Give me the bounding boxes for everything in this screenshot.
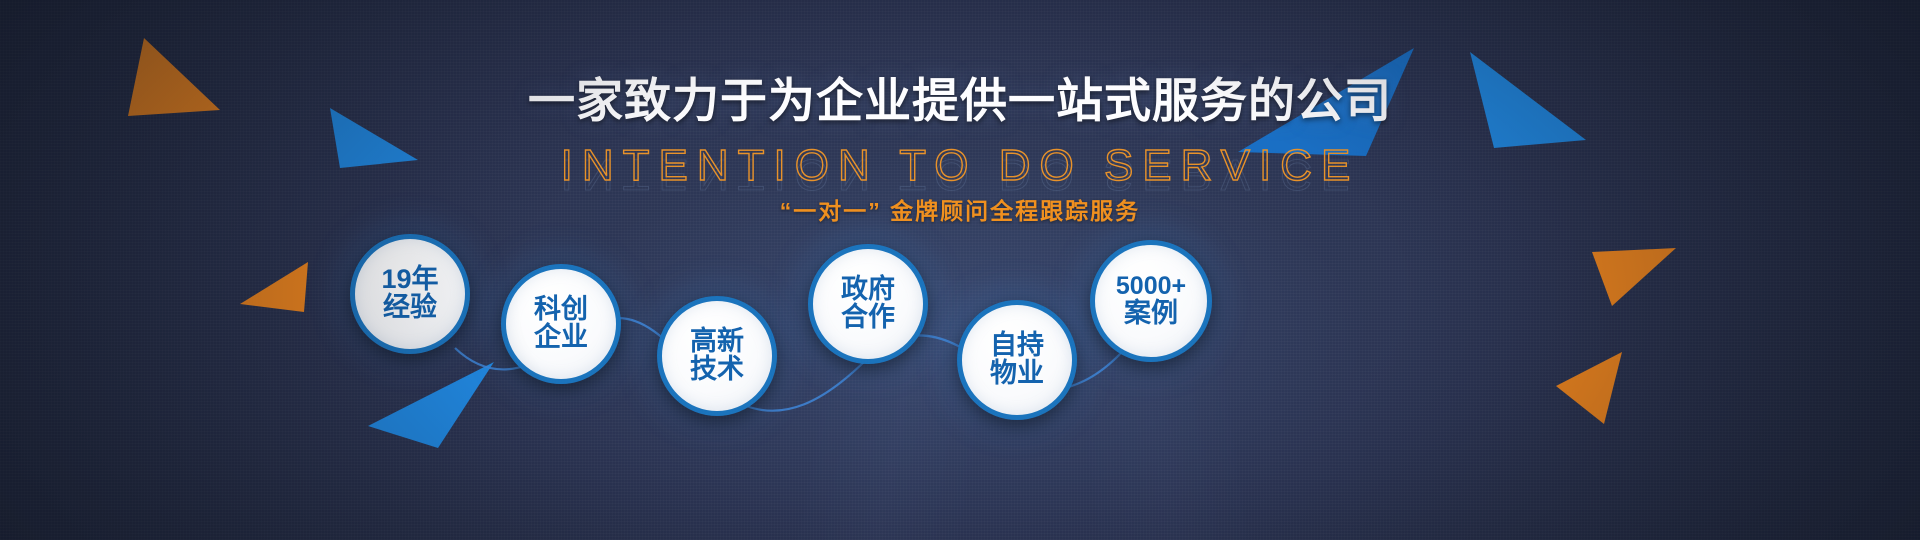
badge-line-1: 高新 xyxy=(690,328,744,356)
badge-owned-property[interactable]: 自持 物业 xyxy=(957,300,1077,420)
badge-line-1: 政府 xyxy=(841,276,895,304)
badge-government[interactable]: 政府 合作 xyxy=(808,244,928,364)
badge-line-1: 科创 xyxy=(534,296,588,324)
badge-19-years[interactable]: 19年 经验 xyxy=(350,234,470,354)
badge-line-2: 案例 xyxy=(1124,300,1178,328)
badge-line-1: 自持 xyxy=(990,332,1044,360)
badge-line-2: 合作 xyxy=(841,304,895,332)
badge-line-2: 企业 xyxy=(534,324,588,352)
badge-line-2: 经验 xyxy=(383,294,437,322)
badge-row: 19年 经验 科创 企业 高新 技术 政府 合作 自持 物业 5000+ 案例 xyxy=(0,0,1920,540)
promo-banner: 一家致力于为企业提供一站式服务的公司 INTENTION TO DO SERVI… xyxy=(0,0,1920,540)
badge-line-1: 5000+ xyxy=(1116,274,1186,300)
badge-line-2: 物业 xyxy=(990,360,1044,388)
badge-high-tech[interactable]: 高新 技术 xyxy=(657,296,777,416)
badge-line-1: 19年 xyxy=(381,266,438,294)
badge-tech-startup[interactable]: 科创 企业 xyxy=(501,264,621,384)
badge-cases[interactable]: 5000+ 案例 xyxy=(1090,240,1212,362)
badge-line-2: 技术 xyxy=(690,356,744,384)
